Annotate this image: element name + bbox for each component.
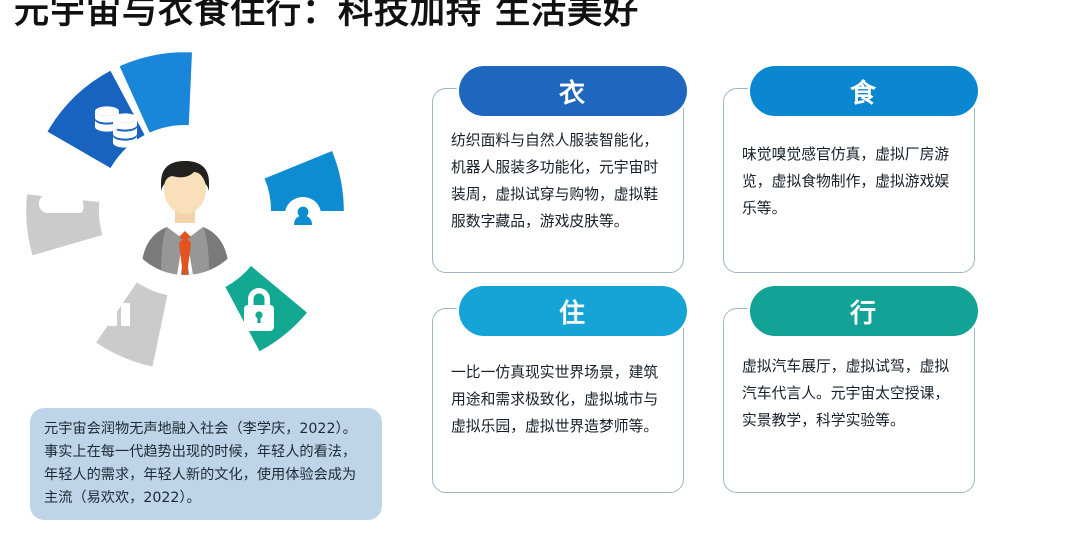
category-pill-zhu[interactable]: 住: [459, 286, 687, 336]
category-card-xing[interactable]: 行 虚拟汽车展厅，虚拟试驾，虚拟汽车代言人。元宇宙太空授课，实景教学，科学实验等…: [723, 308, 975, 493]
category-card-text: 虚拟汽车展厅，虚拟试驾，虚拟汽车代言人。元宇宙太空授课，实景教学，科学实验等。: [724, 353, 974, 434]
businessman-avatar-icon: [121, 147, 249, 275]
category-pill-label: 衣: [559, 73, 587, 110]
bar-chart-icon: [95, 294, 130, 326]
avatar: [121, 147, 249, 275]
donut-segment-cloud[interactable]: [26, 170, 111, 262]
page-title: 元宇宙与衣食住行：科技加持 生活美好: [14, 0, 639, 34]
donut-segment-bar-chart[interactable]: [94, 279, 168, 367]
capability-donut-diagram: [26, 52, 344, 370]
category-pill-yi[interactable]: 衣: [459, 66, 687, 116]
category-card-shi[interactable]: 食 味觉嗅觉感官仿真，虚拟厂房游览，虚拟食物制作，虚拟游戏娱乐等。: [723, 88, 975, 273]
category-card-yi[interactable]: 衣 纺织面料与自然人服装智能化，机器人服装多功能化，元宇宙时装周，虚拟试穿与购物…: [432, 88, 684, 273]
citation-text: 元宇宙会润物无声地融入社会（李学庆，2022）。事实上在每一代趋势出现的时候，年…: [44, 418, 368, 510]
category-card-text: 一比一仿真现实世界场景，建筑用途和需求极致化，虚拟城市与虚拟乐园，虚拟世界造梦师…: [433, 359, 683, 440]
category-pill-xing[interactable]: 行: [750, 286, 978, 336]
citation-callout-box: 元宇宙会润物无声地融入社会（李学庆，2022）。事实上在每一代趋势出现的时候，年…: [30, 408, 382, 520]
category-card-text: 纺织面料与自然人服装智能化，机器人服装多功能化，元宇宙时装周，虚拟试穿与购物，虚…: [433, 127, 683, 235]
category-pill-shi[interactable]: 食: [750, 66, 978, 116]
category-pill-label: 住: [559, 293, 587, 330]
category-card-zhu[interactable]: 住 一比一仿真现实世界场景，建筑用途和需求极致化，虚拟城市与虚拟乐园，虚拟世界造…: [432, 308, 684, 493]
category-pill-label: 行: [850, 293, 878, 330]
gear-settings-icon: [236, 90, 286, 140]
category-card-text: 味觉嗅觉感官仿真，虚拟厂房游览，虚拟食物制作，虚拟游戏娱乐等。: [724, 141, 974, 222]
location-pin-person-icon: [285, 197, 321, 243]
category-pill-label: 食: [850, 73, 878, 110]
category-card-grid: 衣 纺织面料与自然人服装智能化，机器人服装多功能化，元宇宙时装周，虚拟试穿与购物…: [432, 88, 998, 508]
cloud-wifi-icon: [39, 179, 90, 214]
